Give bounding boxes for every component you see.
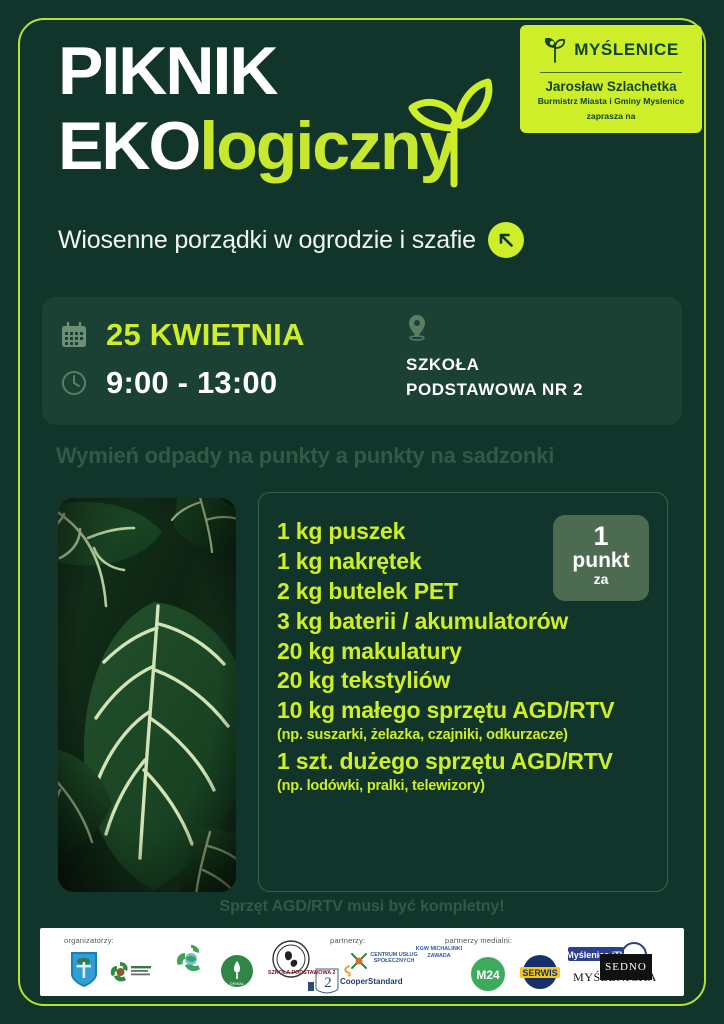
sprout-icon: [388, 72, 508, 192]
point-value-badge: 1 punkt za: [553, 515, 649, 601]
point-word: punkt: [553, 550, 649, 572]
event-place-group: SZKOŁA PODSTAWOWA NR 2: [402, 297, 583, 425]
list-item: 20 kg makulatury: [277, 637, 667, 667]
page-title-eko: EKO: [58, 108, 199, 184]
myslenice-coat-of-arms-logo: [68, 950, 100, 988]
partners-footer-strip: organizatorzy: partnerzy: partnerzy medi…: [40, 928, 684, 996]
alocasia-leaves-photo: [58, 498, 236, 892]
sedno-logo: SEDNO: [600, 954, 652, 980]
drwal-logo-text: DRWAL: [230, 981, 245, 986]
list-item: 1 szt. dużego sprzętu AGD/RTV: [277, 747, 667, 777]
kgw-michalinki-zawada-text: KGW MICHALINKI ZAWADA: [412, 946, 466, 961]
centrum-uslug-spolecznych-text: CENTRUM USŁUG SPOŁECZNYCH: [370, 952, 418, 964]
svg-text:2: 2: [324, 975, 332, 991]
event-datetime-group: 25 KWIETNIA 9:00 - 13:00: [42, 297, 402, 425]
list-item: 10 kg małego sprzętu AGD/RTV: [277, 696, 667, 726]
point-for-word: za: [553, 572, 649, 587]
exchange-heading: Wymień odpady na punkty a punkty na sadz…: [56, 443, 554, 469]
point-number: 1: [553, 523, 649, 550]
m24-logo: M24: [470, 956, 506, 992]
myslenice-crest-icon: [543, 36, 567, 64]
drwal-green-circle-logo: DRWAL: [220, 954, 254, 988]
myslenicki-serwis-logo: SERWIS: [518, 954, 562, 990]
list-item-note: (np. lodówki, pralki, telewizory): [277, 777, 667, 795]
clock-icon: [60, 369, 88, 397]
poster-subtitle-row: Wiosenne porządki w ogrodzie i szafie: [58, 222, 524, 258]
badge-mayor-name: Jarosław Szlachetka: [528, 79, 694, 94]
calendar-icon: [60, 321, 88, 349]
event-info-panel: 25 KWIETNIA 9:00 - 13:00 SZKOŁA PODSTAWO…: [42, 297, 682, 425]
partners-label: partnerzy:: [330, 936, 365, 945]
cooperstandard-logo: CooperStandard: [340, 972, 414, 992]
badge-invite-text: zaprasza na: [528, 111, 694, 121]
equipment-complete-note: Sprzęt AGD/RTV musi być kompletny!: [0, 898, 724, 916]
recycling-circle-logo: [108, 958, 152, 986]
list-item: 20 kg tekstyliów: [277, 666, 667, 696]
event-date-row: 25 KWIETNIA: [60, 311, 402, 359]
eco-recycle-globe-logo: [174, 944, 208, 974]
poster-header: PIKNIK EKOlogiczny: [0, 0, 724, 290]
mayor-invitation-badge: MYŚLENICE Jarosław Szlachetka Burmistrz …: [520, 25, 702, 133]
serwis-logo-text: SERWIS: [522, 968, 557, 978]
accepted-items-card: 1 kg puszek 1 kg nakrętek 2 kg butelek P…: [258, 492, 668, 892]
m24-logo-text: M24: [476, 968, 500, 982]
media-partners-label: partnerzy medialni:: [445, 936, 512, 945]
poster-root: PIKNIK EKOlogiczny: [0, 0, 724, 1024]
event-date: 25 KWIETNIA: [106, 317, 305, 353]
event-place-line-1: SZKOŁA: [406, 353, 583, 378]
list-item: 3 kg baterii / akumulatorów: [277, 607, 667, 637]
event-place-line-2: PODSTAWOWA NR 2: [406, 378, 583, 403]
poster-subtitle: Wiosenne porządki w ogrodzie i szafie: [58, 226, 476, 255]
arrow-up-left-icon: [488, 222, 524, 258]
cooperstandard-text: CooperStandard: [340, 978, 414, 987]
organizers-label: organizatorzy:: [64, 936, 114, 945]
map-pin-icon: [406, 313, 428, 341]
szkola-podstawowa-2-logo: 2 SZKOŁA PODSTAWOWA 2: [268, 968, 342, 994]
event-time-row: 9:00 - 13:00: [60, 359, 402, 407]
badge-mayor-role: Burmistrz Miasta i Gminy Myslenice: [528, 97, 694, 107]
list-item-note: (np. suszarki, żelazka, czajniki, odkurz…: [277, 726, 667, 744]
badge-city-row: MYŚLENICE: [528, 33, 694, 67]
kgw-michalinki-zawada-logo: KGW MICHALINKI ZAWADA: [412, 946, 466, 972]
event-time: 9:00 - 13:00: [106, 365, 277, 401]
szkola-podstawowa-2-text: SZKOŁA PODSTAWOWA 2: [268, 970, 312, 976]
badge-divider: [540, 72, 682, 73]
badge-city-name: MYŚLENICE: [574, 40, 679, 60]
sedno-logo-text: SEDNO: [600, 954, 652, 980]
